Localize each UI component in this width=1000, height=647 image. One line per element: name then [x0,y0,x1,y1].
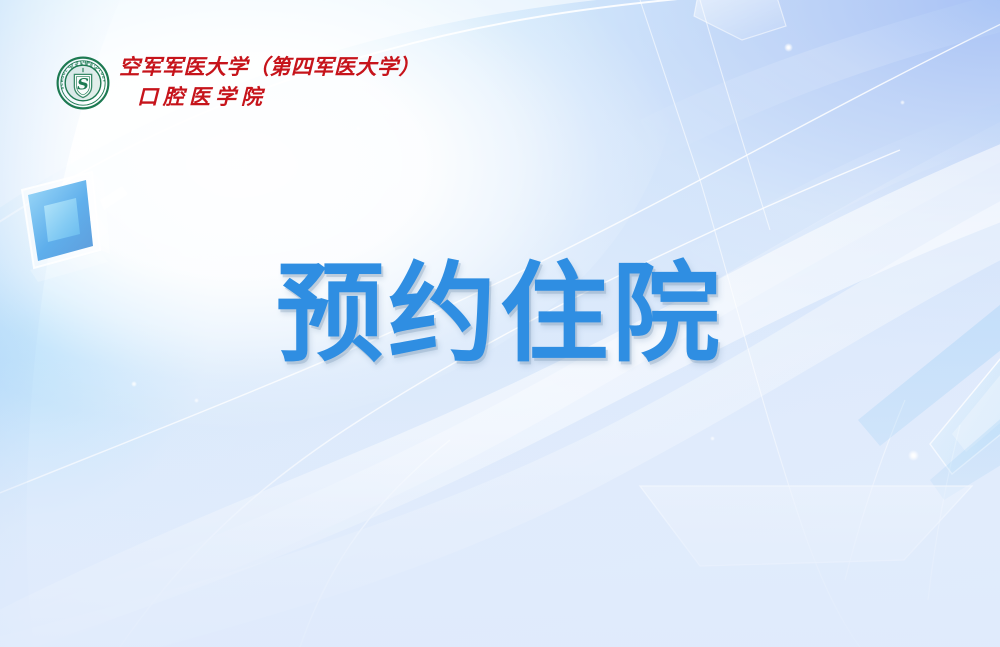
institution-name-line-2: 口腔医学院 [137,84,420,110]
institution-name-line-1: 空军军医大学（第四军医大学） [119,54,420,80]
presentation-slide: S S C H O O L O F S T O M A T O L O G [0,0,1000,647]
university-seal-icon: S S C H O O L O F S T O M A T O L O G [56,56,110,110]
title-container: 预约住院 [0,258,1000,371]
institution-name-block: 空军军医大学（第四军医大学） 口腔医学院 [119,52,420,111]
svg-text:H: H [60,79,64,82]
page-title: 预约住院 [276,258,724,371]
svg-text:S: S [77,74,89,93]
institution-logo-lockup: S S C H O O L O F S T O M A T O L O G [56,52,420,111]
background-bottom-wash [0,357,1000,647]
